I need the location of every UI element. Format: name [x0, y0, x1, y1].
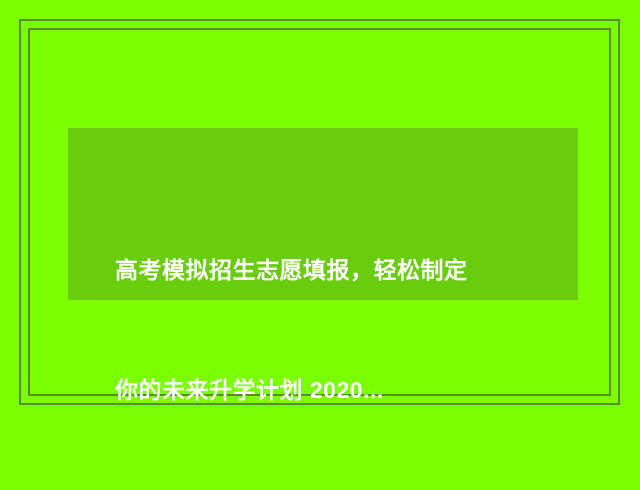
headline-line-2: 你的未来升学计划 2020...	[115, 370, 535, 410]
content-panel: 高考模拟招生志愿填报，轻松制定 你的未来升学计划 2020...	[68, 128, 578, 300]
headline-line-1: 高考模拟招生志愿填报，轻松制定	[115, 250, 535, 290]
headline-text: 高考模拟招生志愿填报，轻松制定 你的未来升学计划 2020...	[115, 170, 535, 490]
page-canvas: 高考模拟招生志愿填报，轻松制定 你的未来升学计划 2020...	[0, 0, 640, 425]
